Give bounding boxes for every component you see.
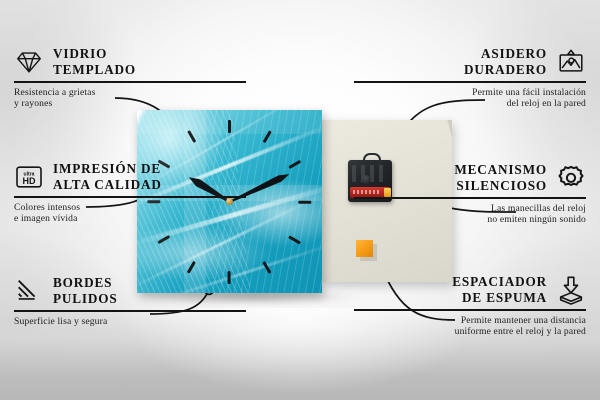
feature-description: Superficie lisa y segura bbox=[14, 316, 246, 328]
infographic-canvas: VIDRIO TEMPLADO Resistencia a grietas y … bbox=[0, 0, 600, 400]
gear-icon bbox=[556, 163, 586, 193]
foam-spacer-icon bbox=[556, 275, 586, 305]
feature-title: MECANISMO SILENCIOSO bbox=[454, 162, 547, 193]
feature-rule bbox=[354, 197, 586, 199]
feature-rule bbox=[14, 196, 246, 198]
feature-title: BORDES PULIDOS bbox=[53, 275, 118, 306]
feature-title: IMPRESIÓN DE ALTA CALIDAD bbox=[53, 161, 162, 192]
feature-description: Colores intensos e imagen vívida bbox=[14, 202, 246, 225]
svg-text:HD: HD bbox=[23, 175, 36, 185]
feature-mecanismo-silencioso: MECANISMO SILENCIOSO Las manecillas del … bbox=[354, 162, 586, 226]
polished-edges-icon bbox=[14, 276, 44, 306]
picture-hanger-icon bbox=[556, 47, 586, 77]
feature-description: Permite mantener una distancia uniforme … bbox=[354, 315, 586, 338]
feature-rule bbox=[14, 310, 246, 312]
feature-asidero-duradero: ASIDERO DURADERO Permite una fácil insta… bbox=[354, 46, 586, 110]
foam-spacer bbox=[356, 240, 373, 257]
feature-bordes-pulidos: BORDES PULIDOS Superficie lisa y segura bbox=[14, 275, 246, 327]
feature-rule bbox=[354, 81, 586, 83]
feature-impresion-alta-calidad: ultra HD IMPRESIÓN DE ALTA CALIDAD Color… bbox=[14, 161, 246, 225]
feature-description: Las manecillas del reloj no emiten ningú… bbox=[354, 203, 586, 226]
feature-title: ASIDERO DURADERO bbox=[464, 46, 547, 77]
feature-vidrio-templado: VIDRIO TEMPLADO Resistencia a grietas y … bbox=[14, 46, 246, 110]
feature-description: Permite una fácil instalación del reloj … bbox=[354, 87, 586, 110]
feature-rule bbox=[14, 81, 246, 83]
feature-title: ESPACIADOR DE ESPUMA bbox=[452, 274, 547, 305]
feature-title: VIDRIO TEMPLADO bbox=[53, 46, 136, 77]
ultra-hd-icon: ultra HD bbox=[14, 162, 44, 192]
feature-description: Resistencia a grietas y rayones bbox=[14, 87, 246, 110]
diamond-icon bbox=[14, 47, 44, 77]
feature-espaciador-de-espuma: ESPACIADOR DE ESPUMA Permite mantener un… bbox=[354, 274, 586, 338]
feature-rule bbox=[354, 309, 586, 311]
